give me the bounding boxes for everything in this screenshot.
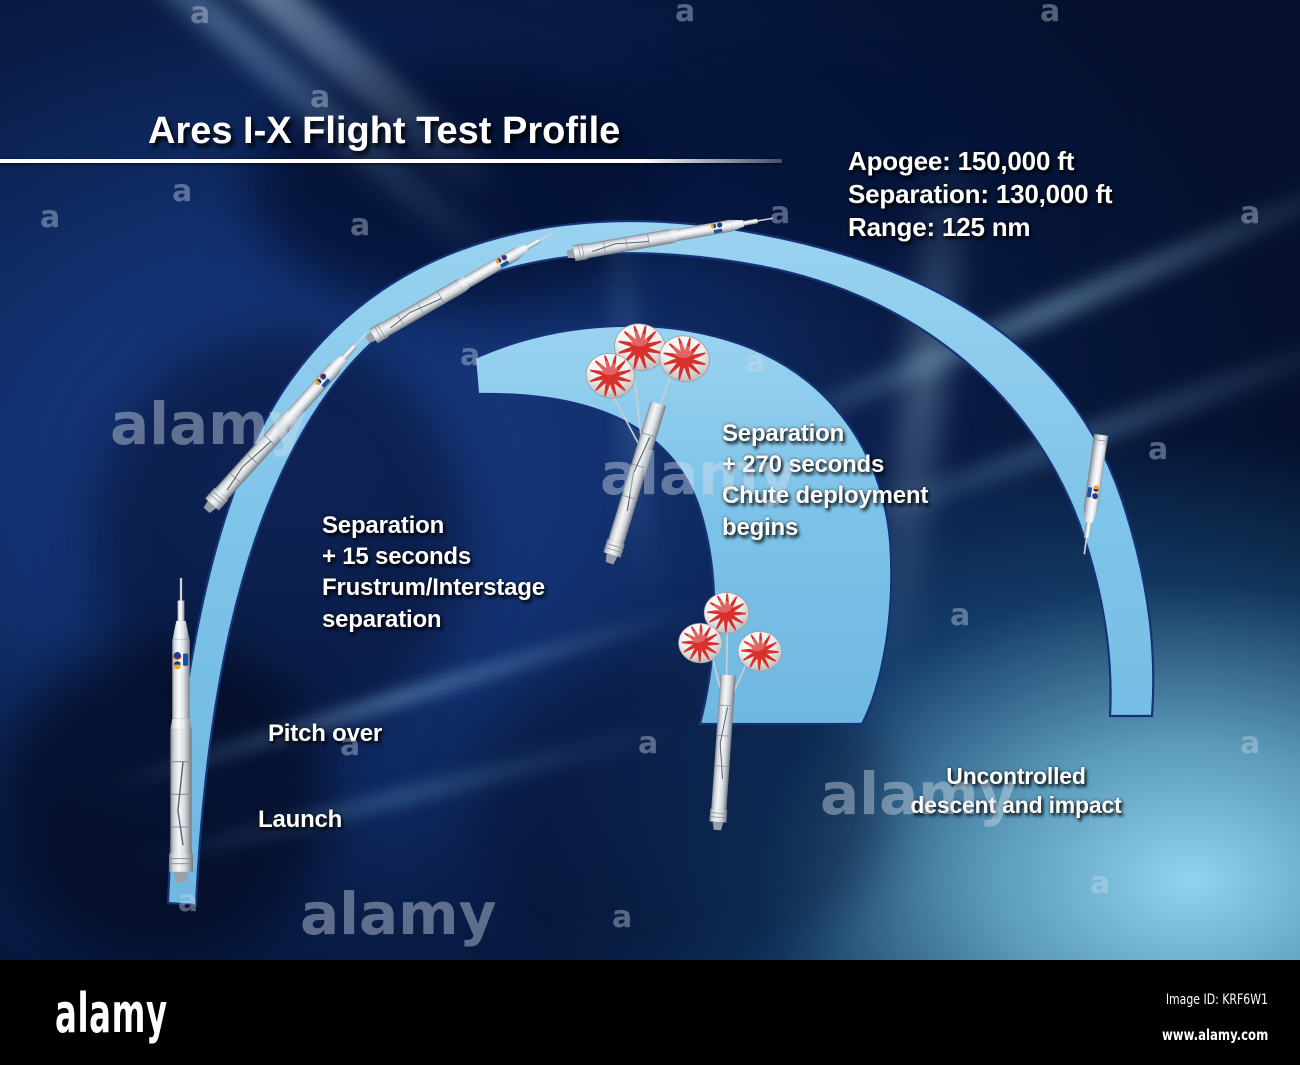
flight-profile-image: Ares I-X Flight Test Profile Apogee: 150… xyxy=(0,0,1300,960)
alamy-website-text[interactable]: www.alamy.com xyxy=(1162,1026,1268,1044)
stat-separation: Separation: 130,000 ft xyxy=(848,179,1112,209)
label-separation-15: Separation + 15 seconds Frustrum/Interst… xyxy=(322,510,545,635)
stat-apogee: Apogee: 150,000 ft xyxy=(848,146,1074,176)
label-launch: Launch xyxy=(258,806,342,833)
image-id-text: Image ID: KRF6W1 xyxy=(1166,992,1268,1008)
alamy-logo: alamy xyxy=(55,982,168,1045)
stat-range: Range: 125 nm xyxy=(848,212,1030,242)
page-title: Ares I-X Flight Test Profile xyxy=(148,110,620,153)
screenshot-root: Ares I-X Flight Test Profile Apogee: 150… xyxy=(0,0,1300,1065)
label-pitch-over: Pitch over xyxy=(268,720,382,747)
title-underline xyxy=(0,159,782,163)
vehicle-pitch-over xyxy=(200,327,373,517)
flight-stats: Apogee: 150,000 ftSeparation: 130,000 ft… xyxy=(848,145,1112,244)
vehicle-launch xyxy=(169,578,193,882)
label-separation-270: Separation + 270 seconds Chute deploymen… xyxy=(722,418,928,543)
alamy-footer-bar: alamy Image ID: KRF6W1 www.alamy.com xyxy=(0,960,1300,1065)
label-uncontrolled-descent: Uncontrolled descent and impact xyxy=(860,762,1172,820)
